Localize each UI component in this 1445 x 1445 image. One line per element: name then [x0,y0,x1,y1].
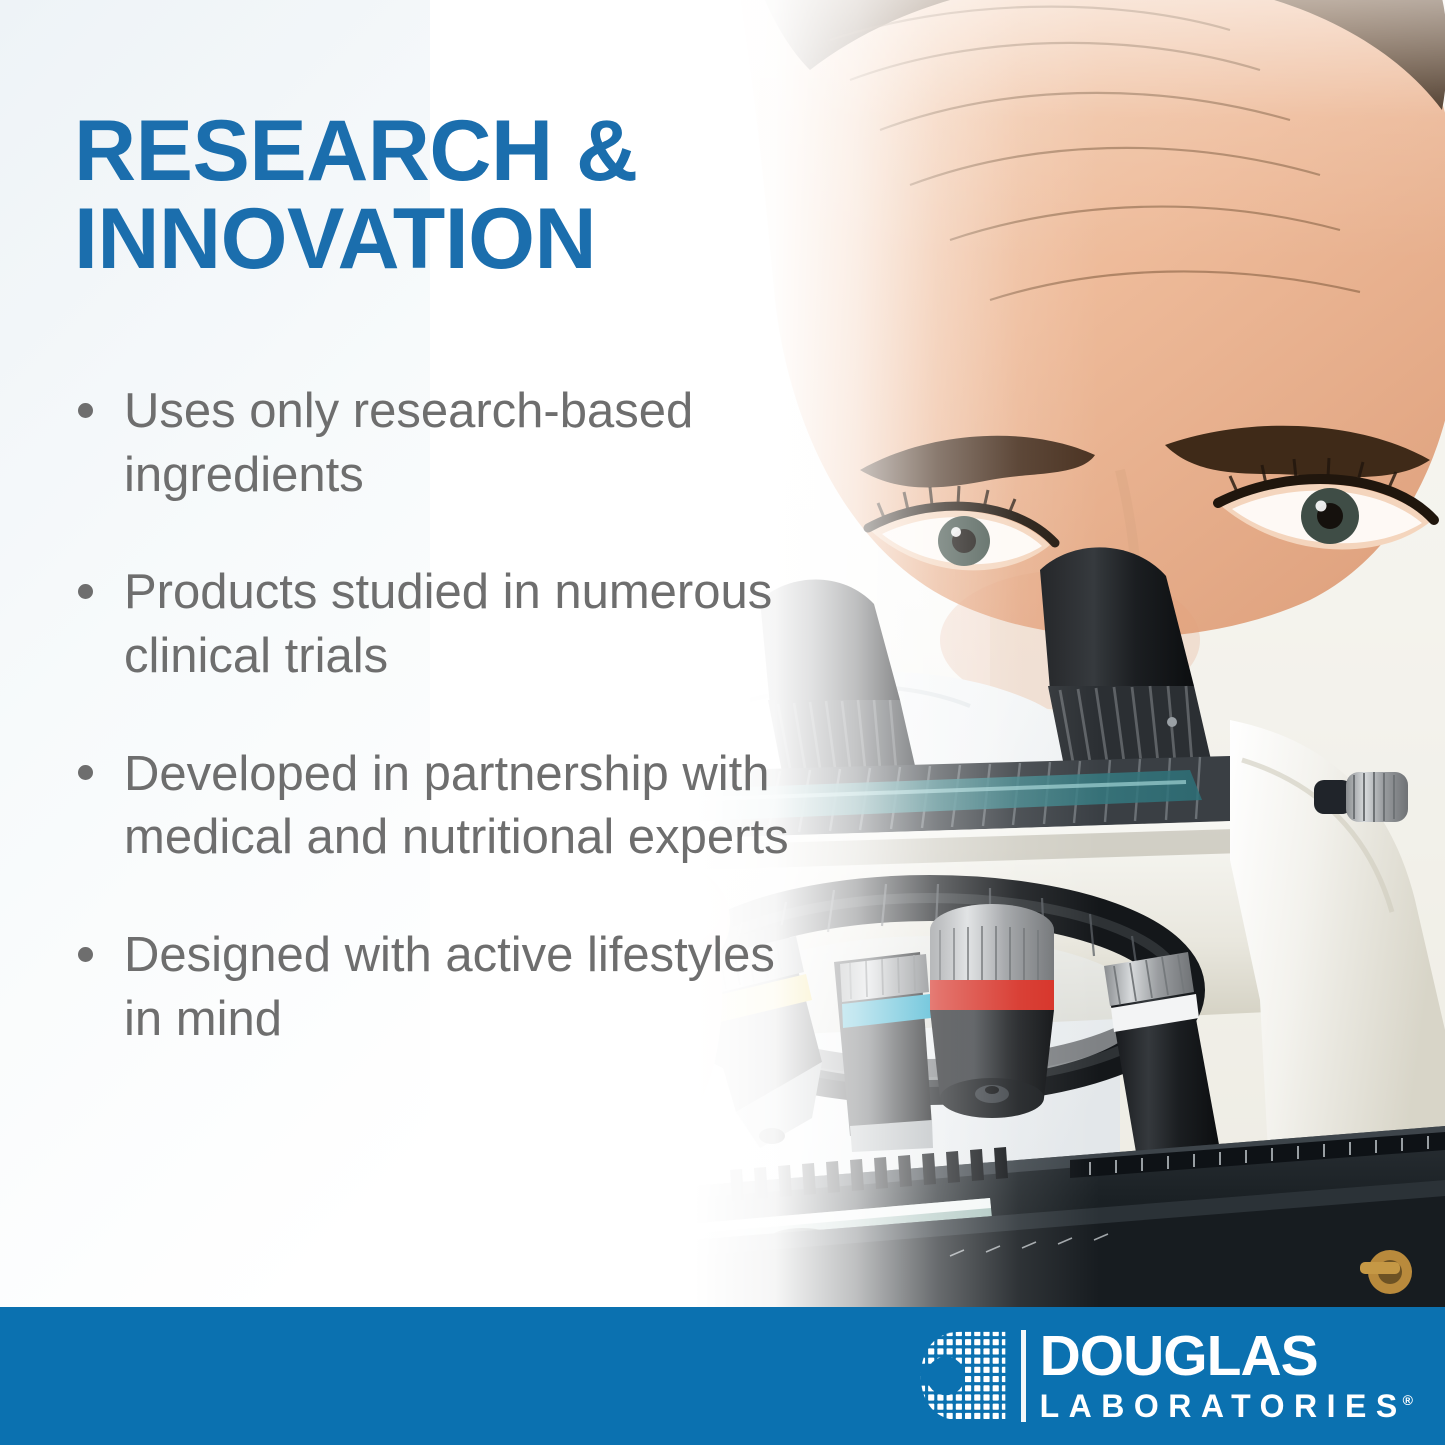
list-item-label: Developed in partnership with medical an… [124,747,789,865]
bullet-dot-icon [78,403,93,418]
dotted-grid-logo-svg [917,1328,1013,1424]
logo-brand-subtitle-text: LABORATORIES [1040,1388,1407,1424]
list-item-label: Designed with active lifestyles in mind [124,928,775,1046]
bullet-dot-icon [78,947,93,962]
douglas-laboratories-logo: DOUGLAS LABORATORIES® [917,1328,1413,1424]
logo-wordmark: DOUGLAS LABORATORIES® [1040,1329,1413,1423]
list-item: Uses only research-based ingredients [66,380,796,507]
list-item: Products studied in numerous clinical tr… [66,561,796,688]
bullet-dot-icon [78,584,93,599]
logo-divider [1021,1330,1026,1422]
logo-brand-name: DOUGLAS [1040,1329,1413,1385]
bullet-dot-icon [78,765,93,780]
page-title-line-1: RESEARCH & [74,108,774,196]
feature-list: Uses only research-based ingredients Pro… [66,380,796,1052]
page-title: RESEARCH & INNOVATION [74,108,774,283]
list-item-label: Uses only research-based ingredients [124,384,693,502]
list-item: Developed in partnership with medical an… [66,743,796,870]
poster-root: RESEARCH & INNOVATION Uses only research… [0,0,1445,1445]
registered-trademark-icon: ® [1403,1392,1413,1408]
list-item-label: Products studied in numerous clinical tr… [124,565,772,683]
list-item: Designed with active lifestyles in mind [66,924,796,1051]
brand-footer-bar: DOUGLAS LABORATORIES® [0,1307,1445,1445]
page-title-line-2: INNOVATION [74,196,774,284]
dotted-grid-logo-icon [917,1328,1013,1424]
logo-brand-subtitle: LABORATORIES® [1040,1390,1413,1424]
